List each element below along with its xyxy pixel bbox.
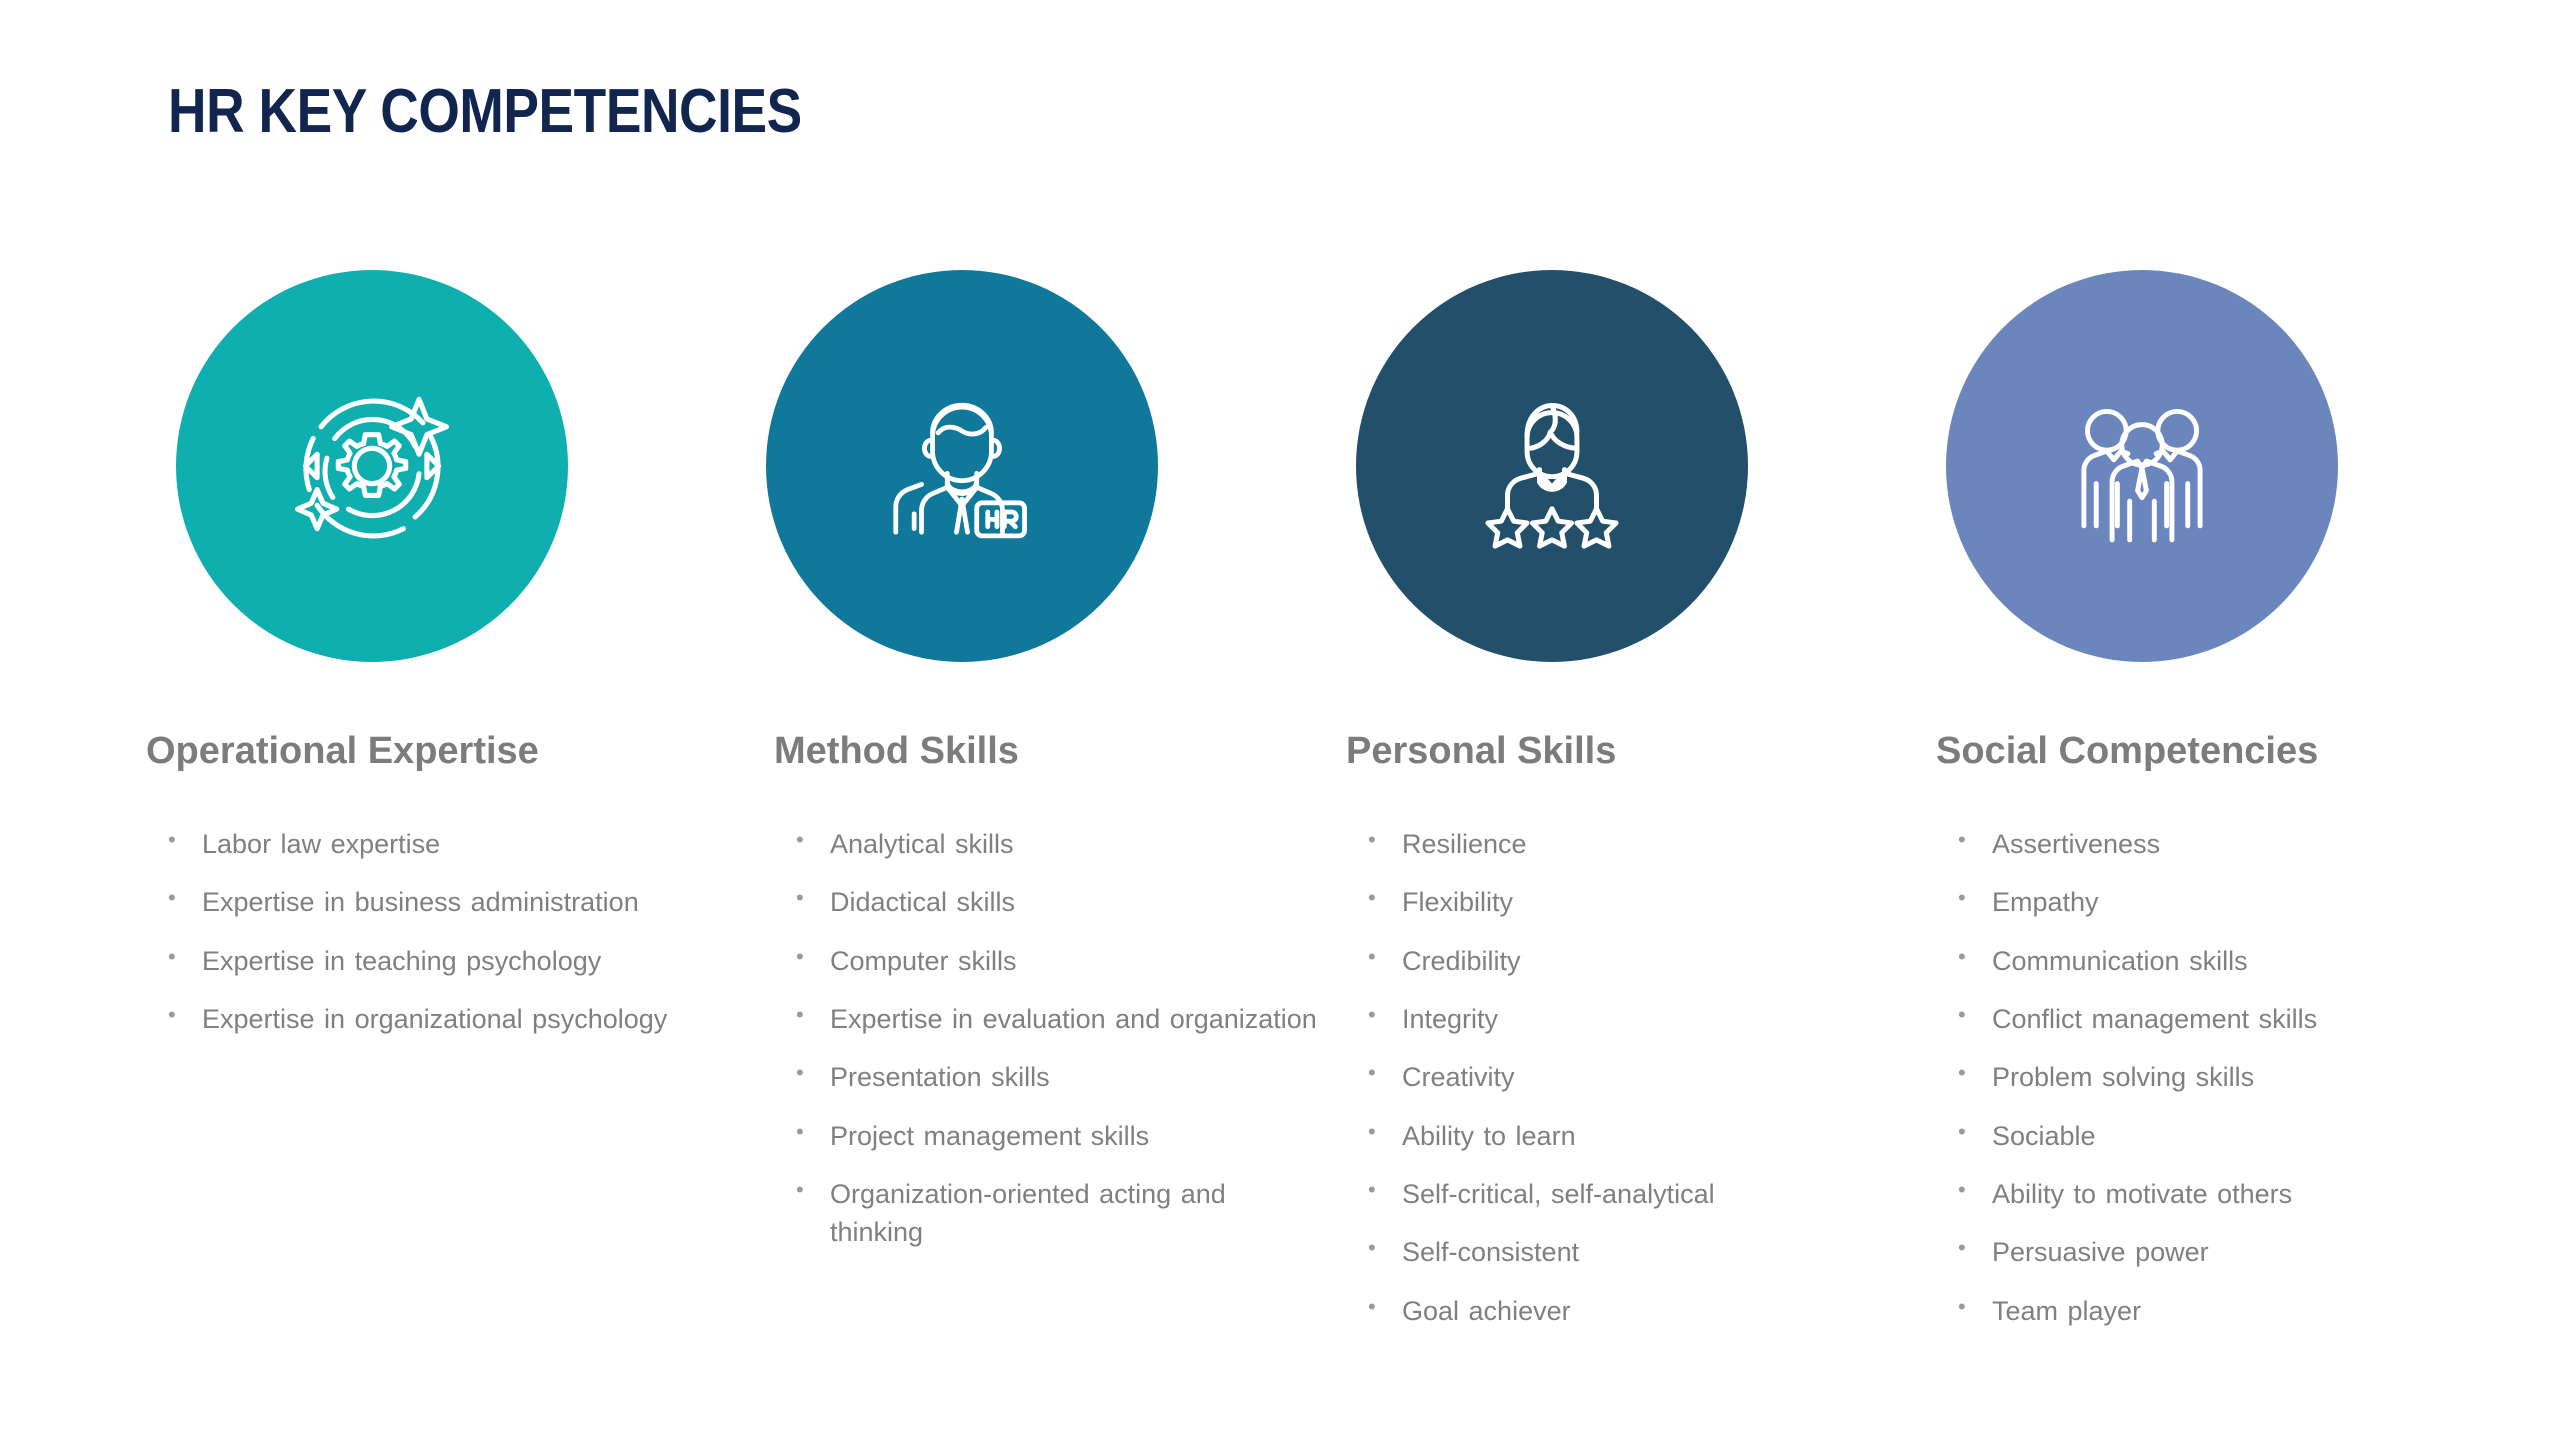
list-item: Flexibility <box>1360 883 1890 921</box>
list-item: Sociable <box>1950 1117 2480 1155</box>
competency-column-method-skills: Method Skills Analytical skills Didactic… <box>736 270 1296 1350</box>
icon-circle-personal-skills <box>1356 270 1748 662</box>
list-item: Presentation skills <box>788 1058 1318 1096</box>
list-item: Computer skills <box>788 942 1318 980</box>
list-item: Expertise in organizational psychology <box>160 1000 690 1038</box>
list-item: Expertise in teaching psychology <box>160 942 690 980</box>
list-item: Communication skills <box>1950 942 2480 980</box>
list-item: Team player <box>1950 1292 2480 1330</box>
list-item: Resilience <box>1360 825 1890 863</box>
list-item: Conflict management skills <box>1950 1000 2480 1038</box>
page-title: HR KEY COMPETENCIES <box>168 76 802 147</box>
list-item: Integrity <box>1360 1000 1890 1038</box>
column-heading: Operational Expertise <box>146 730 539 773</box>
bullet-list-personal-skills: Resilience Flexibility Credibility Integ… <box>1360 825 1890 1350</box>
person-three-stars-icon <box>1463 377 1641 555</box>
icon-circle-social-competencies <box>1946 270 2338 662</box>
competency-column-social-competencies: Social Competencies Assertiveness Empath… <box>1916 270 2476 1350</box>
list-item: Labor law expertise <box>160 825 690 863</box>
list-item: Persuasive power <box>1950 1233 2480 1271</box>
bullet-list-method-skills: Analytical skills Didactical skills Comp… <box>788 825 1318 1272</box>
list-item: Self-critical, self-analytical <box>1360 1175 1890 1213</box>
competency-column-operational-expertise: Operational Expertise Labor law expertis… <box>146 270 706 1350</box>
list-item: Expertise in business administration <box>160 883 690 921</box>
list-item: Creativity <box>1360 1058 1890 1096</box>
hr-person-badge-icon <box>870 374 1054 558</box>
list-item: Ability to learn <box>1360 1117 1890 1155</box>
slide-canvas: HR KEY COMPETENCIES <box>0 0 2559 1440</box>
list-item: Analytical skills <box>788 825 1318 863</box>
column-heading: Social Competencies <box>1936 730 2318 773</box>
list-item: Goal achiever <box>1360 1292 1890 1330</box>
gear-cycle-icon <box>274 368 470 564</box>
competency-column-personal-skills: Personal Skills Resilience Flexibility C… <box>1326 270 1886 1350</box>
list-item: Ability to motivate others <box>1950 1175 2480 1213</box>
list-item: Assertiveness <box>1950 825 2480 863</box>
competency-columns: Operational Expertise Labor law expertis… <box>0 270 2559 1350</box>
list-item: Expertise in evaluation and organization <box>788 1000 1318 1038</box>
list-item: Credibility <box>1360 942 1890 980</box>
bullet-list-operational-expertise: Labor law expertise Expertise in busines… <box>160 825 690 1058</box>
bullet-list-social-competencies: Assertiveness Empathy Communication skil… <box>1950 825 2480 1350</box>
icon-circle-operational-expertise <box>176 270 568 662</box>
list-item: Problem solving skills <box>1950 1058 2480 1096</box>
list-item: Project management skills <box>788 1117 1318 1155</box>
people-group-icon <box>2054 378 2230 554</box>
column-heading: Method Skills <box>774 730 1019 773</box>
column-heading: Personal Skills <box>1346 730 1616 773</box>
list-item: Organization-oriented acting and thinkin… <box>788 1175 1318 1252</box>
list-item: Didactical skills <box>788 883 1318 921</box>
list-item: Self-consistent <box>1360 1233 1890 1271</box>
list-item: Empathy <box>1950 883 2480 921</box>
icon-circle-method-skills <box>766 270 1158 662</box>
